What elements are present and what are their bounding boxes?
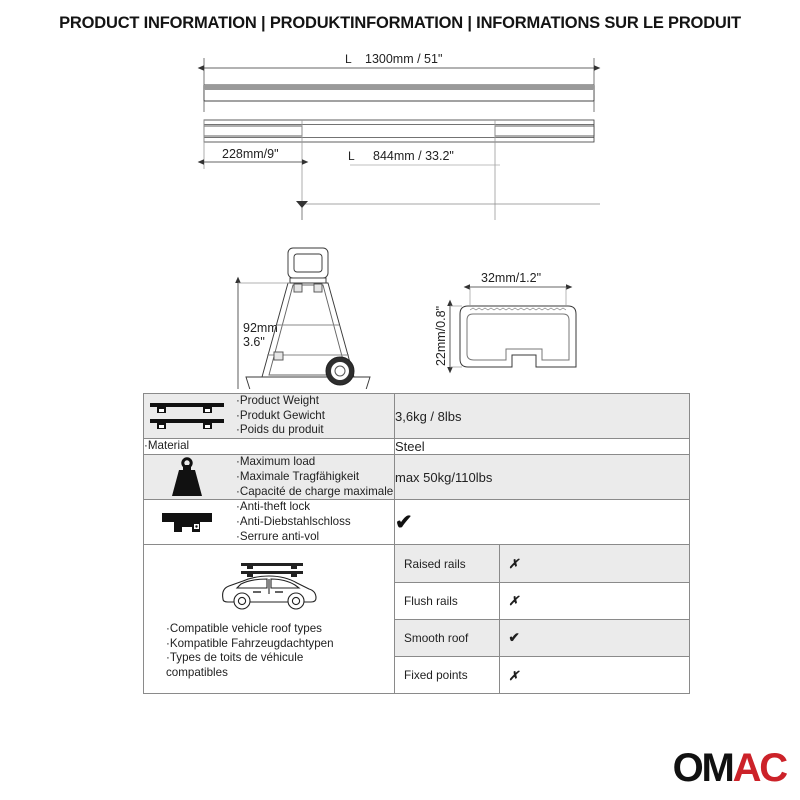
check-icon: ✔ — [395, 511, 413, 534]
compat-label-list: ·Compatible vehicle roof types ·Kompatib… — [150, 622, 342, 681]
roof-type-row: Flush rails ✗ — [395, 582, 689, 619]
spec-label-de: ·Maximale Tragfähigkeit — [236, 470, 393, 485]
profile-height-dim: 22mm/0.8" — [434, 306, 448, 366]
spec-label-fr: ·Serrure anti-vol — [236, 530, 351, 545]
spec-label-de: ·Anti-Diebstahlschloss — [236, 515, 351, 530]
spec-label-list: ·Material — [144, 439, 394, 454]
spec-value-cell: Steel — [395, 439, 690, 455]
compat-label-cell: ·Compatible vehicle roof types ·Kompatib… — [144, 545, 395, 694]
spec-label-cell: ·Product Weight ·Produkt Gewicht ·Poids … — [144, 394, 395, 439]
roof-type-support: ✗ — [499, 582, 689, 619]
spec-label-cell: ·Material — [144, 439, 395, 455]
table-row: ·Maximum load ·Maximale Tragfähigkeit ·C… — [144, 455, 690, 500]
check-icon: ✔ — [509, 630, 520, 645]
cross-icon: ✗ — [509, 594, 519, 608]
crossbar-icon — [144, 398, 230, 434]
logo-text-ac: AC — [733, 746, 786, 790]
specification-table: ·Product Weight ·Produkt Gewicht ·Poids … — [143, 393, 690, 694]
bar-length-dim-label: L — [345, 52, 352, 66]
compat-label-fr: ·Types de toits de véhicule compatibles — [166, 651, 342, 680]
logo-text-om: OM — [673, 746, 733, 790]
spec-label-fr: ·Capacité de charge maximale — [236, 485, 393, 500]
roof-types-table: Raised rails ✗ Flush rails ✗ — [395, 545, 689, 693]
spec-label-cell: ·Anti-theft lock ·Anti-Diebstahlschloss … — [144, 500, 395, 545]
compat-label-en: ·Compatible vehicle roof types — [166, 622, 342, 637]
roof-type-row: Smooth roof ✔ — [395, 619, 689, 656]
roof-type-support: ✗ — [499, 545, 689, 582]
table-row: ·Product Weight ·Produkt Gewicht ·Poids … — [144, 394, 690, 439]
roof-types-cell: Raised rails ✗ Flush rails ✗ — [395, 545, 690, 694]
spec-value-cell: 3,6kg / 8lbs — [395, 394, 690, 439]
roof-type-name: Raised rails — [395, 545, 499, 582]
table-row: ·Anti-theft lock ·Anti-Diebstahlschloss … — [144, 500, 690, 545]
spec-label-de: ·Produkt Gewicht — [236, 409, 325, 424]
spec-label-list: ·Anti-theft lock ·Anti-Diebstahlschloss … — [236, 500, 351, 544]
roof-type-name: Flush rails — [395, 582, 499, 619]
spec-label-en: ·Product Weight — [236, 394, 325, 409]
roof-type-support: ✔ — [499, 619, 689, 656]
spec-label-en: ·Maximum load — [236, 455, 393, 470]
cross-icon: ✗ — [509, 669, 519, 683]
technical-drawing: L 1300mm / 51" — [0, 44, 800, 389]
spec-value-cell: ✔ — [395, 500, 690, 545]
span-dim-label: L — [348, 149, 355, 163]
weight-icon — [144, 456, 230, 498]
table-row: ·Material Steel — [144, 439, 690, 455]
span-dim-value: 844mm / 33.2" — [373, 149, 454, 163]
page-title: PRODUCT INFORMATION | PRODUKTINFORMATION… — [0, 14, 800, 33]
spec-label-list: ·Product Weight ·Produkt Gewicht ·Poids … — [236, 394, 325, 438]
spec-label-en: ·Anti-theft lock — [236, 500, 351, 515]
omac-logo: OMAC — [673, 748, 786, 788]
spec-label-fr: ·Poids du produit — [236, 423, 325, 438]
cross-icon: ✗ — [509, 557, 519, 571]
roof-type-row: Raised rails ✗ — [395, 545, 689, 582]
roof-type-name: Fixed points — [395, 656, 499, 693]
profile-width-dim: 32mm/1.2" — [481, 271, 541, 285]
product-information-sheet: PRODUCT INFORMATION | PRODUKTINFORMATION… — [0, 0, 800, 800]
spec-value-cell: max 50kg/110lbs — [395, 455, 690, 500]
bar-length-dim-value: 1300mm / 51" — [365, 52, 442, 66]
roof-type-name: Smooth roof — [395, 619, 499, 656]
foot-height-line1: 92mm — [243, 321, 278, 335]
car-with-rack-icon — [213, 557, 325, 616]
foot-height-line2: 3.6" — [243, 335, 265, 349]
lock-icon — [144, 505, 230, 539]
table-row: ·Compatible vehicle roof types ·Kompatib… — [144, 545, 690, 694]
roof-type-row: Fixed points ✗ — [395, 656, 689, 693]
spec-label-cell: ·Maximum load ·Maximale Tragfähigkeit ·C… — [144, 455, 395, 500]
roof-type-support: ✗ — [499, 656, 689, 693]
spec-label-en: ·Material — [144, 439, 394, 454]
offset-dim-label: 228mm/9" — [222, 147, 279, 161]
spec-label-list: ·Maximum load ·Maximale Tragfähigkeit ·C… — [236, 455, 393, 499]
compat-label-de: ·Kompatible Fahrzeugdachtypen — [166, 637, 342, 652]
